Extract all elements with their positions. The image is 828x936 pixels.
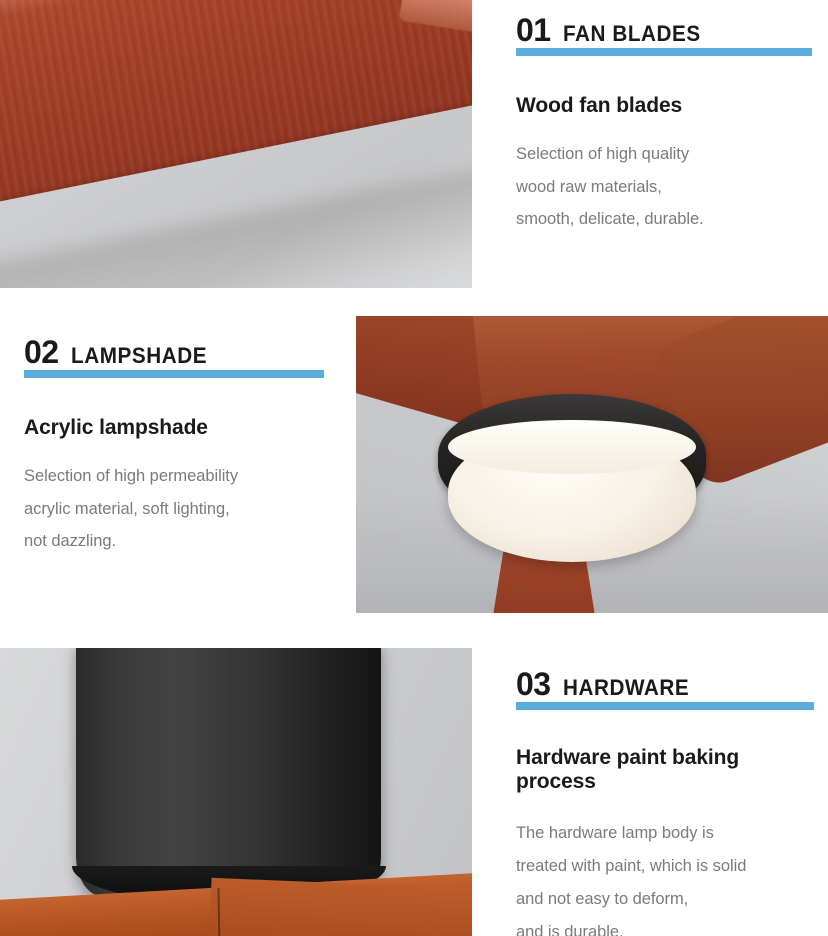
feature-label: HARDWARE — [563, 677, 689, 699]
feature-number: 02 — [24, 336, 59, 368]
accent-bar — [516, 702, 814, 710]
product-feature-infographic: 01 FAN BLADES Wood fan blades Selection … — [0, 0, 828, 936]
feature-label: FAN BLADES — [563, 23, 701, 45]
feature-block-lampshade: 02 LAMPSHADE Acrylic lampshade Selection… — [24, 336, 326, 557]
feature-heading-row: 03 HARDWARE — [516, 668, 822, 700]
body-line: not dazzling. — [24, 525, 326, 557]
accent-bar — [24, 370, 324, 378]
feature-block-fan-blades: 01 FAN BLADES Wood fan blades Selection … — [516, 14, 816, 235]
feature-heading-row: 02 LAMPSHADE — [24, 336, 326, 368]
body-line: and is durable. — [516, 916, 822, 936]
body-line: and not easy to deform, — [516, 883, 822, 916]
feature-body: Selection of high quality wood raw mater… — [516, 138, 816, 235]
feature-block-hardware: 03 HARDWARE Hardware paint baking proces… — [516, 668, 822, 936]
accent-bar — [516, 48, 812, 56]
motor-housing-cylinder — [76, 648, 381, 896]
feature-subtitle: Wood fan blades — [516, 94, 816, 118]
feature-body: The hardware lamp body is treated with p… — [516, 817, 822, 936]
fan-blade-photo — [0, 0, 472, 288]
acrylic-shade-top — [448, 420, 696, 474]
feature-subtitle: Acrylic lampshade — [24, 416, 326, 440]
lampshade-photo — [356, 316, 828, 613]
body-line: The hardware lamp body is — [516, 817, 822, 850]
feature-body: Selection of high permeability acrylic m… — [24, 460, 326, 557]
feature-label: LAMPSHADE — [71, 345, 207, 367]
wood-blade-bottom-right — [209, 878, 472, 936]
feature-number: 03 — [516, 668, 551, 700]
body-line: acrylic material, soft lighting, — [24, 493, 326, 525]
body-line: smooth, delicate, durable. — [516, 203, 816, 235]
body-line: Selection of high permeability — [24, 460, 326, 492]
feature-subtitle: Hardware paint baking process — [516, 746, 822, 795]
feature-number: 01 — [516, 14, 551, 46]
body-line: Selection of high quality — [516, 138, 816, 170]
hardware-photo — [0, 648, 472, 936]
body-line: treated with paint, which is solid — [516, 850, 822, 883]
body-line: wood raw materials, — [516, 171, 816, 203]
feature-heading-row: 01 FAN BLADES — [516, 14, 816, 46]
